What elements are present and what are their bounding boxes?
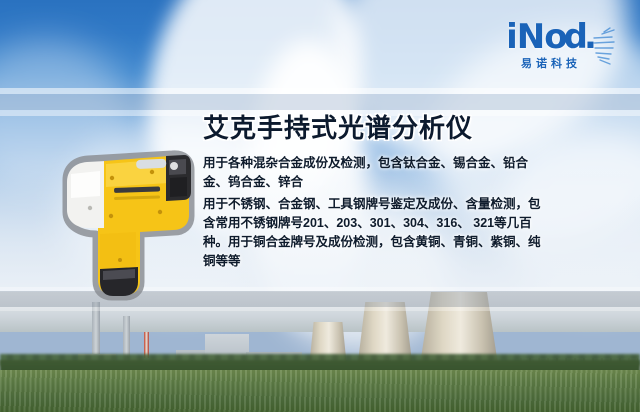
page-title: 艾克手持式光谱分析仪: [203, 112, 623, 144]
description-paragraph-2: 用于不锈钢、合金钢、工具钢牌号鉴定及成份、含量检测，包含常用不锈钢牌号201、2…: [203, 195, 548, 271]
logo-wordmark: iNod.: [478, 20, 624, 54]
description-paragraph-1: 用于各种混杂合金成份及检测，包含钛合金、锡合金、铅合金、钨合金、锌合: [203, 154, 548, 192]
handheld-xrf-analyzer-icon: [48, 142, 208, 302]
logo-letter-n: N: [517, 17, 544, 57]
farm-field: [0, 370, 640, 412]
logo-letters-od: od: [544, 17, 584, 57]
logo-letter-i: i: [506, 17, 517, 57]
industrial-scene: [0, 292, 640, 412]
logo-subtitle: 易诺科技: [478, 55, 624, 71]
brand-logo[interactable]: iNod. 易诺科技: [478, 20, 624, 76]
copy-block: 艾克手持式光谱分析仪 用于各种混杂合金成份及检测，包含钛合金、锡合金、铅合金、钨…: [203, 112, 623, 274]
logo-dot: .: [584, 17, 596, 57]
product-banner: iNod. 易诺科技 艾克手持式光谱分析仪 用于各种混杂合金成份及检测，包含钛合…: [0, 0, 640, 412]
